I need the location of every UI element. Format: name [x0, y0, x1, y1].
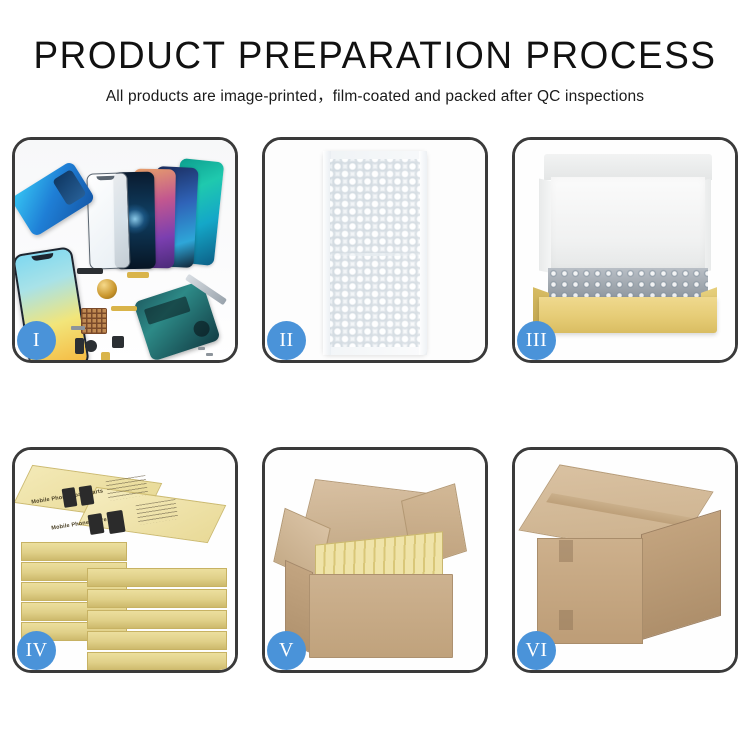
box-front-panel	[539, 297, 717, 333]
sealed-carton-side	[641, 510, 721, 640]
speaker-part-icon	[85, 340, 97, 352]
stacked-box-r4	[87, 631, 227, 650]
mesh-grid-icon	[81, 308, 107, 334]
page-title: PRODUCT PREPARATION PROCESS	[11, 34, 739, 78]
small-part-1-icon	[71, 326, 85, 330]
stacked-box-r1	[87, 568, 227, 587]
process-step-panel-4: Mobile Phone Spare Parts Mobile Phone Sp…	[12, 447, 238, 673]
flex-cable-1-icon	[127, 272, 149, 278]
step-number-badge-1: I	[17, 321, 56, 360]
stacked-box-r2	[87, 589, 227, 608]
step-number-badge-4: IV	[17, 631, 56, 670]
page-subtitle: All products are image-printed，film-coat…	[0, 87, 750, 107]
step-number-badge-3: III	[517, 321, 556, 360]
chip-part-3-icon	[112, 336, 124, 348]
bubble-wrap-pouch-icon	[323, 151, 427, 355]
step-number-badge-6: VI	[517, 631, 556, 670]
box-print-phone-2a-icon	[88, 513, 105, 535]
chip-part-2-icon	[75, 338, 84, 354]
box-lid-face	[551, 177, 705, 269]
process-step-panel-1: I	[12, 137, 238, 363]
step-number-badge-2: II	[267, 321, 306, 360]
screw-2-icon	[206, 353, 213, 356]
box-print-phone-2b-icon	[106, 510, 125, 534]
pouch-seam	[329, 253, 421, 256]
flex-cable-3-icon	[101, 352, 110, 360]
page-header: PRODUCT PREPARATION PROCESS All products…	[0, 0, 750, 107]
tempered-glass-icon	[86, 172, 130, 269]
process-step-panel-2: II	[262, 137, 488, 363]
adhesive-film-pack-icon	[15, 160, 96, 237]
box-print-phone-1b-icon	[79, 485, 95, 506]
carton-body-front	[309, 574, 453, 658]
process-step-panel-6: VI	[512, 447, 738, 673]
stacked-box-r3	[87, 610, 227, 629]
sealed-carton-front	[537, 538, 643, 644]
stacked-box-r5	[87, 652, 227, 670]
process-step-panel-5: V	[262, 447, 488, 673]
sealed-carton-seam-top	[559, 540, 573, 562]
sealed-carton-seam-bottom	[559, 610, 573, 630]
copper-coil-icon	[97, 279, 117, 299]
process-step-panel-3: III	[512, 137, 738, 363]
bubble-wrapped-contents	[548, 268, 708, 298]
step-number-badge-5: V	[267, 631, 306, 670]
stacked-box-l1	[21, 542, 127, 561]
chip-part-1-icon	[77, 268, 103, 274]
process-step-grid: I II	[12, 137, 738, 673]
box-print-phone-1a-icon	[62, 487, 78, 508]
screw-1-icon	[198, 347, 205, 350]
flex-cable-2-icon	[111, 306, 137, 311]
